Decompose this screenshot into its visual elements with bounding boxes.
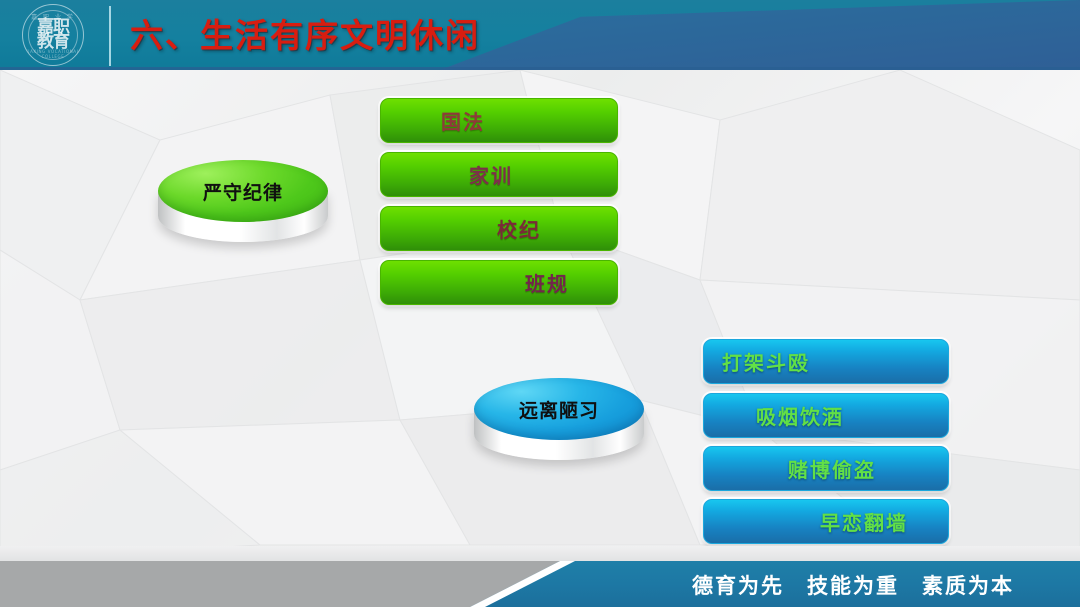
pill-button-bangui[interactable]: 班规 <box>380 260 618 305</box>
footer-slogan: 德育为先 技能为重 素质为本 <box>692 570 1014 600</box>
pill-label: 家训 <box>469 160 513 189</box>
slide-footer: 德育为先 技能为重 素质为本 <box>0 561 1080 607</box>
disc-cylinder-top: 严守纪律 <box>158 160 328 222</box>
pill-button-early-love-wall[interactable]: 早恋翻墙 <box>703 499 949 544</box>
pill-label: 赌博偷盗 <box>788 454 876 483</box>
pill-button-jiaxun[interactable]: 家训 <box>380 152 618 197</box>
header-diagonal-wedge <box>440 0 1080 70</box>
pill-label: 国法 <box>441 106 485 135</box>
pill-button-guofa[interactable]: 国法 <box>380 98 618 143</box>
presentation-slide: 嘉 职 业 学 嘉职 教育 JIAXING VOCATIONAL COLLEGE… <box>0 0 1080 607</box>
pill-label: 吸烟饮酒 <box>756 401 844 430</box>
pill-label: 班规 <box>525 268 569 297</box>
slide-header: 嘉 职 业 学 嘉职 教育 JIAXING VOCATIONAL COLLEGE… <box>0 0 1080 70</box>
pill-label: 打架斗殴 <box>722 347 810 376</box>
seal-center-glyph: 嘉职 教育 <box>37 20 69 50</box>
seal-arc-bottom-text: JIAXING VOCATIONAL COLLEGE <box>23 49 83 59</box>
footer-top-divider <box>0 546 1080 561</box>
school-seal-logo: 嘉 职 业 学 嘉职 教育 JIAXING VOCATIONAL COLLEGE <box>22 4 84 66</box>
pill-label: 校纪 <box>497 214 541 243</box>
pill-button-fighting[interactable]: 打架斗殴 <box>703 339 949 384</box>
pill-label: 早恋翻墙 <box>820 507 908 536</box>
disc-label: 严守纪律 <box>203 178 283 205</box>
header-baseline <box>0 67 1080 70</box>
header-divider <box>109 6 111 66</box>
page-title: 六、生活有序文明休闲 <box>130 9 480 57</box>
disc-cylinder-top: 远离陋习 <box>474 378 644 440</box>
pill-button-smoking-drinking[interactable]: 吸烟饮酒 <box>703 393 949 438</box>
disc-label: 远离陋习 <box>519 396 599 423</box>
pill-button-xiaoji[interactable]: 校纪 <box>380 206 618 251</box>
pill-button-gambling-theft[interactable]: 赌博偷盗 <box>703 446 949 491</box>
